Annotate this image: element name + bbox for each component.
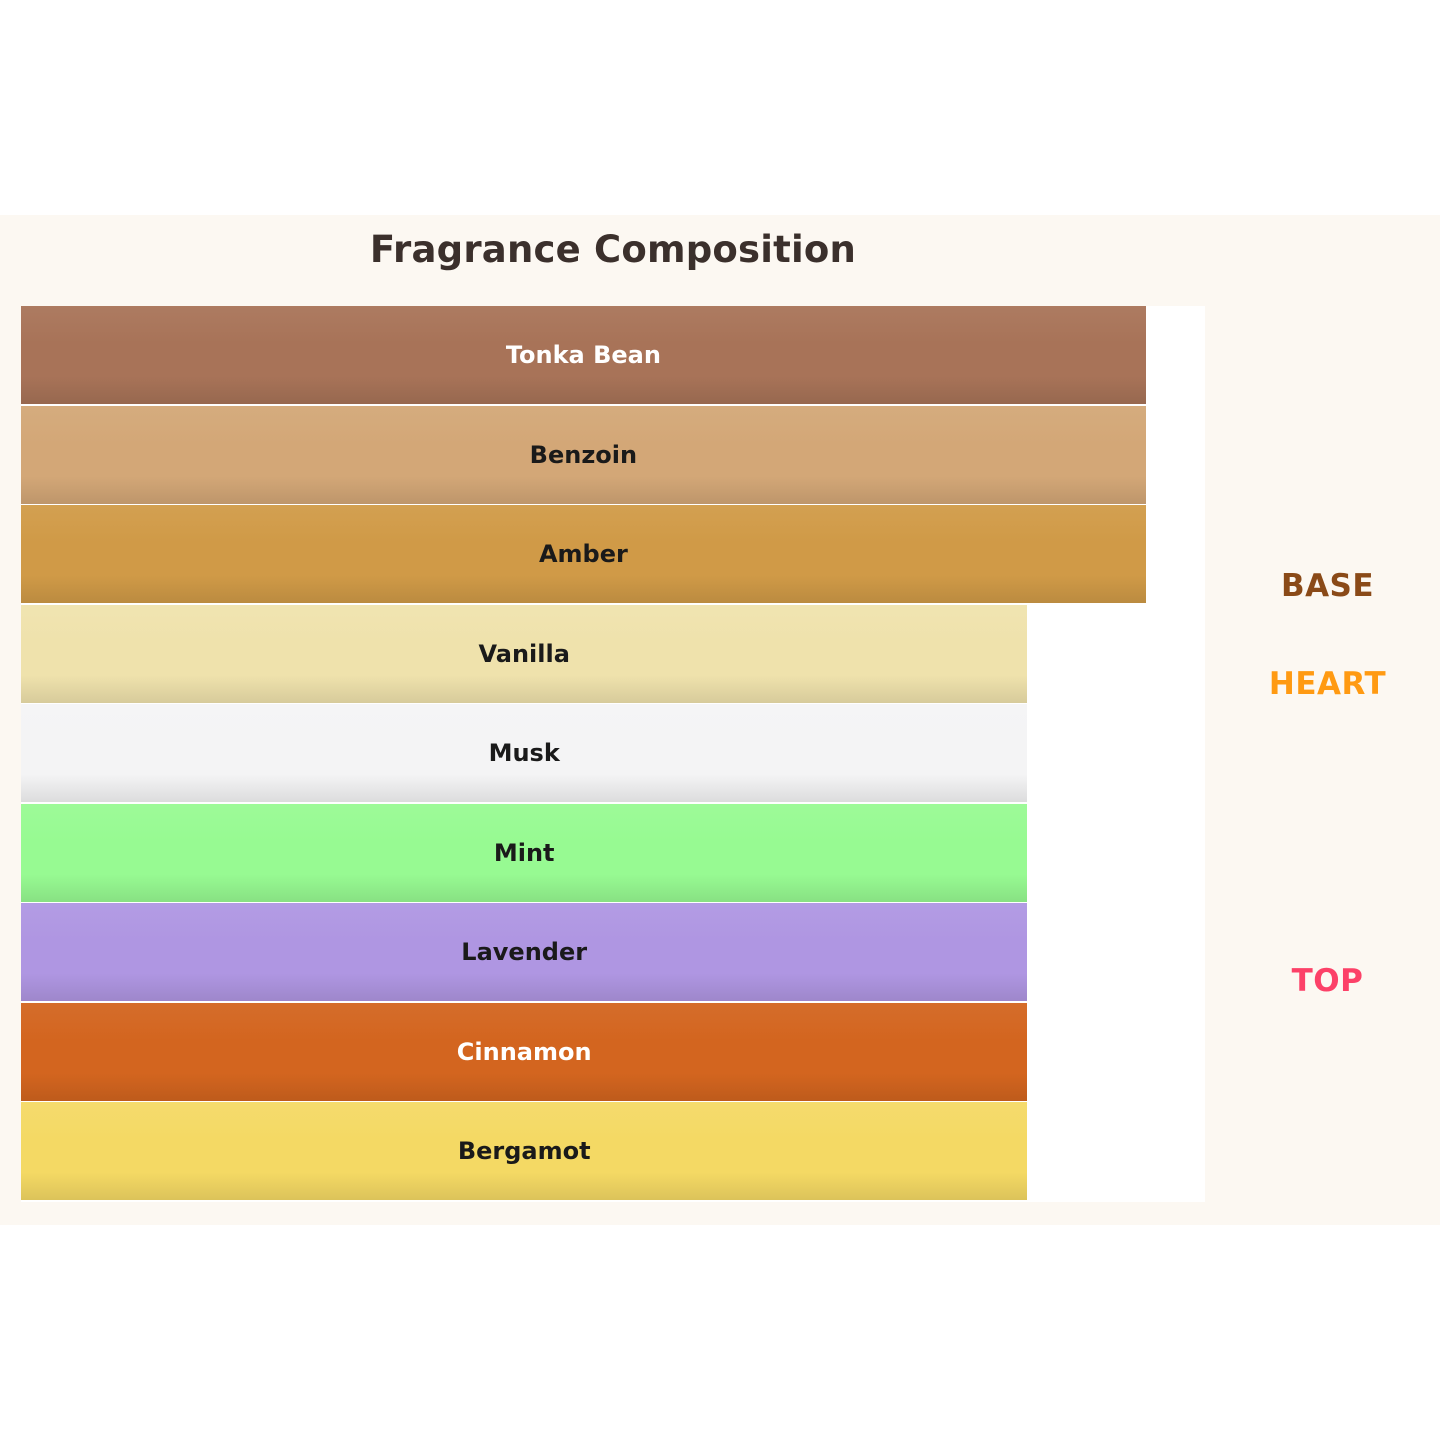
bar-fill — [21, 1102, 1027, 1200]
stage-label-base: BASE — [1220, 568, 1435, 604]
bar-musk[interactable]: Musk — [21, 704, 1027, 802]
bar-benzoin[interactable]: Benzoin — [21, 406, 1146, 504]
bar-fill — [21, 704, 1027, 802]
bar-mint[interactable]: Mint — [21, 804, 1027, 902]
stage-label-heart: HEART — [1220, 666, 1435, 702]
bar-vanilla[interactable]: Vanilla — [21, 605, 1027, 703]
bar-fill — [21, 505, 1146, 603]
bar-fill — [21, 903, 1027, 1001]
bar-fill — [21, 1003, 1027, 1101]
bar-amber[interactable]: Amber — [21, 505, 1146, 603]
bar-stack: Tonka BeanBenzoinAmberVanillaMuskMintLav… — [21, 306, 1205, 1202]
bar-fill — [21, 406, 1146, 504]
bar-cinnamon[interactable]: Cinnamon — [21, 1003, 1027, 1101]
bar-fill — [21, 306, 1146, 404]
bar-fill — [21, 605, 1027, 703]
bar-bergamot[interactable]: Bergamot — [21, 1102, 1027, 1200]
bar-fill — [21, 804, 1027, 902]
fragrance-composition-figure: Fragrance Composition Tonka BeanBenzoinA… — [0, 0, 1440, 1440]
bar-lavender[interactable]: Lavender — [21, 903, 1027, 1001]
page-title: Fragrance Composition — [21, 228, 1205, 271]
bar-tonka-bean[interactable]: Tonka Bean — [21, 306, 1146, 404]
stage-label-top: TOP — [1220, 963, 1435, 999]
